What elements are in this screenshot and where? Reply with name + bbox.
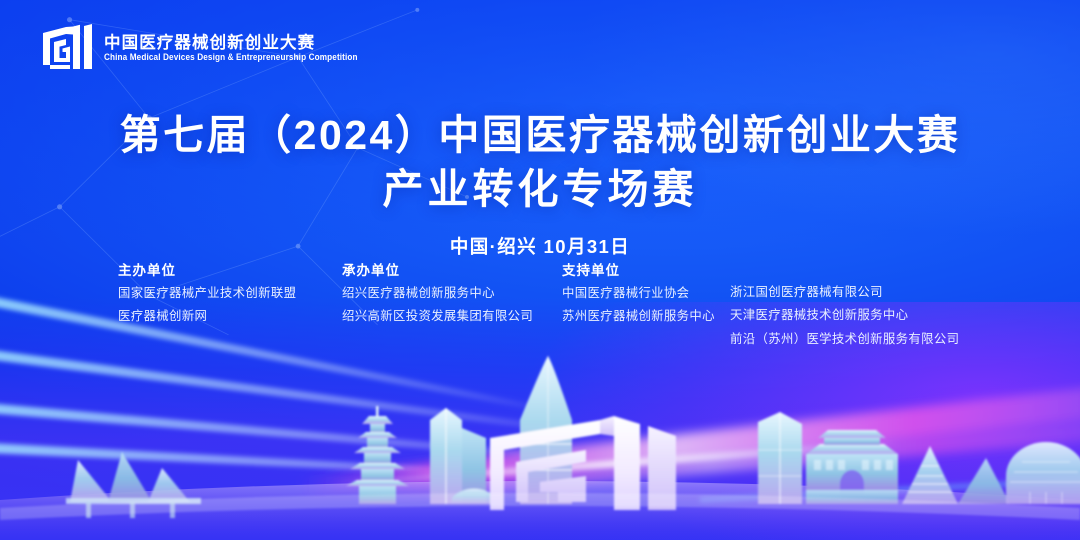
credit-item: 前沿（苏州）医学技术创新服务有限公司 bbox=[730, 333, 959, 345]
brand-name-en: China Medical Devices Design & Entrepren… bbox=[104, 54, 358, 63]
page-title-line1: 第七届（2024）中国医疗器械创新创业大赛 bbox=[0, 108, 1080, 162]
credit-item: 国家医疗器械产业技术创新联盟 bbox=[118, 287, 296, 299]
credit-column-host: 主办单位 国家医疗器械产业技术创新联盟 医疗器械创新网 bbox=[118, 264, 296, 333]
brand-logo-lockup[interactable]: 中国医疗器械创新创业大赛 China Medical Devices Desig… bbox=[42, 24, 358, 71]
credit-item: 绍兴高新区投资发展集团有限公司 bbox=[342, 310, 533, 322]
landmark-dome-hall bbox=[1006, 442, 1080, 504]
credit-column-support: 支持单位 中国医疗器械行业协会 苏州医疗器械创新服务中心 bbox=[562, 264, 715, 333]
landmark-chinese-gate bbox=[806, 430, 898, 504]
credit-heading-organizer: 承办单位 bbox=[342, 264, 533, 278]
credits-section: 主办单位 国家医疗器械产业技术创新联盟 医疗器械创新网 承办单位 绍兴医疗器械创… bbox=[0, 264, 1080, 364]
credit-heading-host: 主办单位 bbox=[118, 264, 296, 278]
credit-item: 绍兴医疗器械创新服务中心 bbox=[342, 287, 533, 299]
credit-item: 中国医疗器械行业协会 bbox=[562, 287, 715, 299]
credit-column-support-secondary: 浙江国创医疗器械有限公司 天津医疗器械技术创新服务中心 前沿（苏州）医学技术创新… bbox=[730, 286, 959, 356]
landmark-tower-block bbox=[758, 412, 802, 504]
credit-column-organizer: 承办单位 绍兴医疗器械创新服务中心 绍兴高新区投资发展集团有限公司 bbox=[342, 264, 533, 333]
brand-name-cn: 中国医疗器械创新创业大赛 bbox=[104, 35, 358, 52]
open-book-door-logo-icon bbox=[42, 24, 94, 71]
page-title-line2: 产业转化专场赛 bbox=[0, 162, 1080, 216]
event-location-date: 中国·绍兴 10月31日 bbox=[0, 233, 1080, 259]
credit-item: 医疗器械创新网 bbox=[118, 310, 296, 322]
brand-logo-text: 中国医疗器械创新创业大赛 China Medical Devices Desig… bbox=[104, 32, 358, 63]
city-skyline-illustration bbox=[0, 350, 1080, 540]
credit-heading-support: 支持单位 bbox=[562, 264, 715, 278]
credit-item: 浙江国创医疗器械有限公司 bbox=[730, 286, 959, 298]
credit-item: 苏州医疗器械创新服务中心 bbox=[562, 310, 715, 322]
title-block: 第七届（2024）中国医疗器械创新创业大赛 产业转化专场赛 中国·绍兴 10月3… bbox=[0, 108, 1080, 259]
banner-poster: 中国医疗器械创新创业大赛 China Medical Devices Desig… bbox=[0, 0, 1080, 540]
credit-item: 天津医疗器械技术创新服务中心 bbox=[730, 309, 959, 321]
